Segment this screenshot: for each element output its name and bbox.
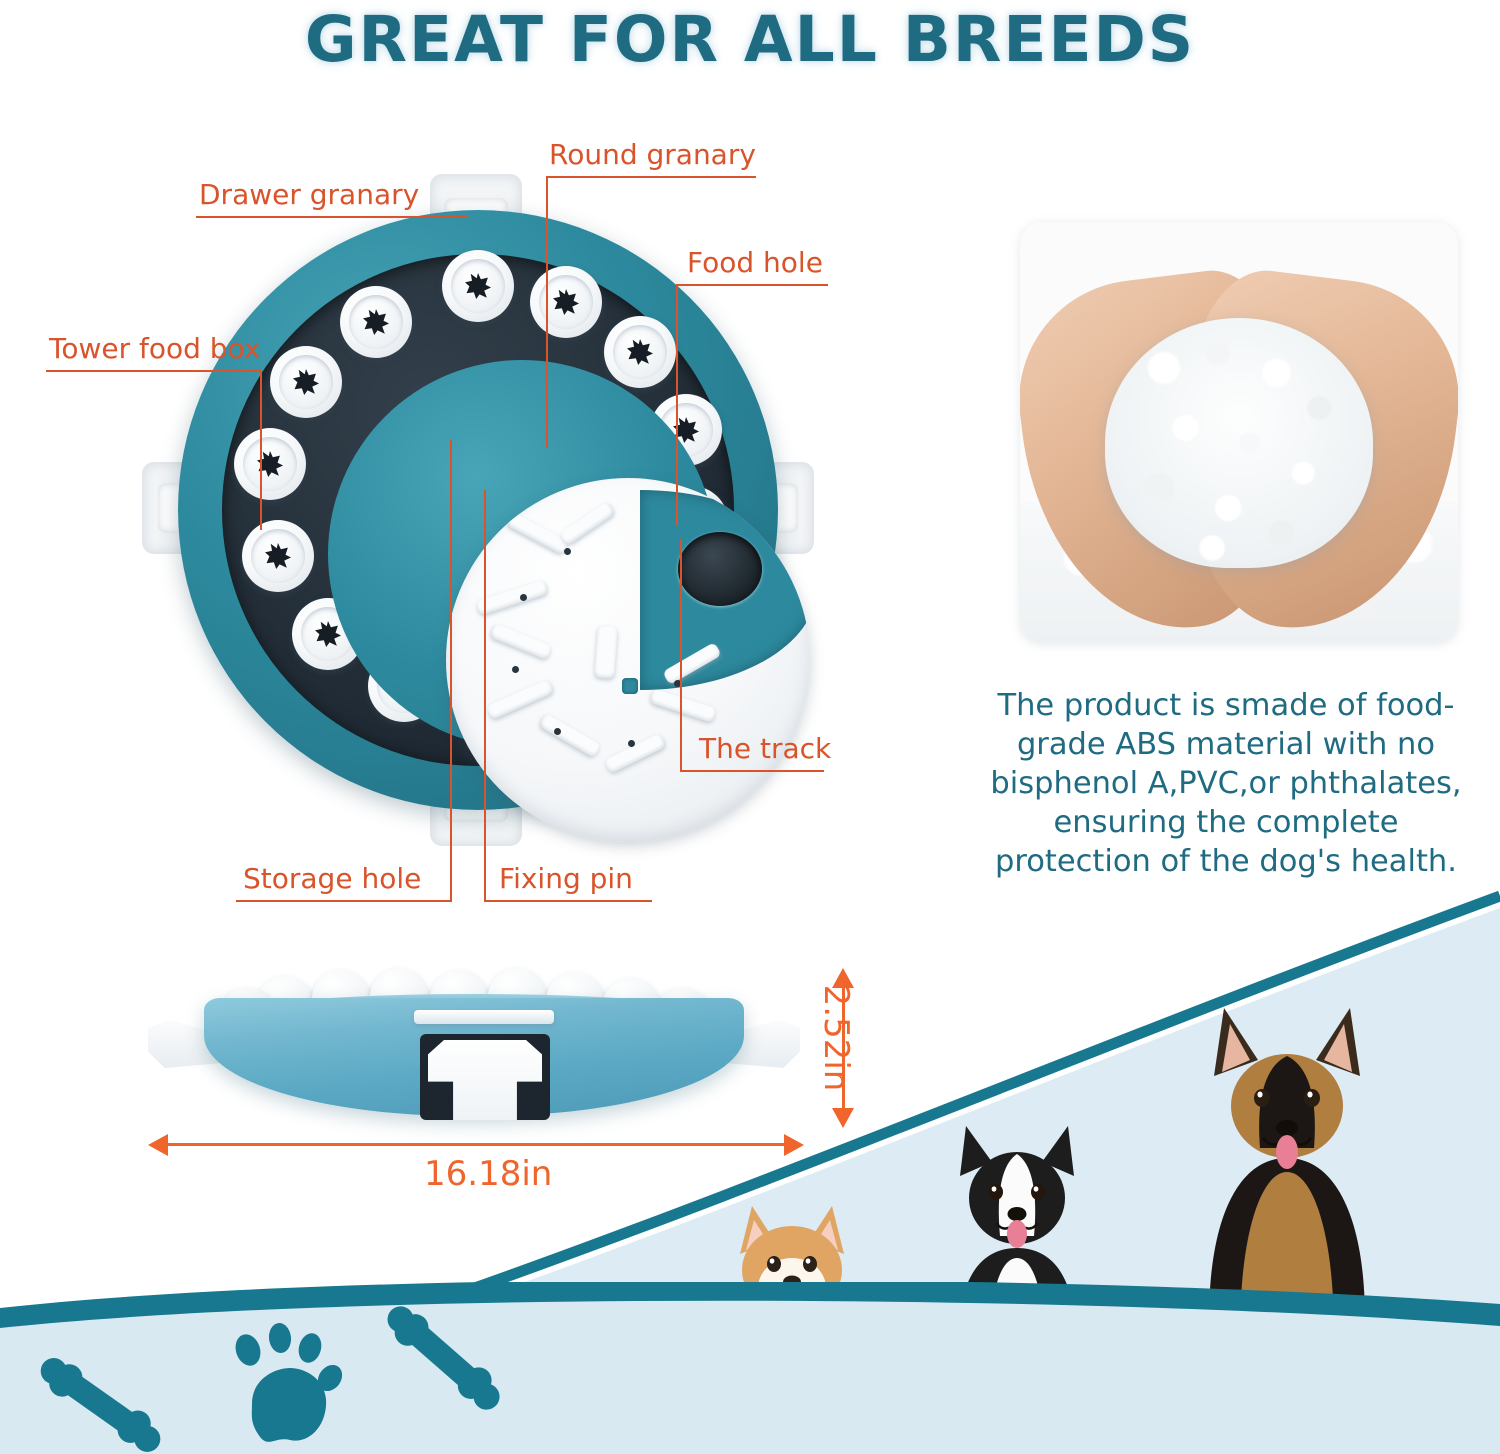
- leader-storage-hole: [450, 440, 452, 900]
- disc-spoke: [649, 688, 716, 723]
- plastic-pellets: [1105, 318, 1373, 568]
- drawer-granary-front: [420, 1034, 550, 1120]
- disc-dot: [512, 666, 519, 673]
- disc-spoke: [594, 625, 618, 678]
- bottom-decor-panel: [0, 1282, 1500, 1454]
- width-arrow-left: [148, 1134, 168, 1156]
- callout-fixing-pin: Fixing pin: [496, 862, 636, 899]
- rotating-disc: [446, 478, 810, 842]
- underline-storage-hole: [236, 900, 452, 902]
- product-side-view: [148, 968, 800, 1128]
- leader-fixing-pin: [484, 490, 486, 900]
- height-dimension-label: 2.52in: [816, 985, 856, 1092]
- infographic-canvas: GREAT FOR ALL BREEDS: [0, 0, 1500, 1454]
- page-title: GREAT FOR ALL BREEDS: [0, 2, 1500, 80]
- underline-the-track: [680, 770, 824, 772]
- disc-spoke: [489, 623, 552, 660]
- disc-spoke: [559, 501, 615, 546]
- callout-the-track: The track: [696, 732, 834, 769]
- disc-dot: [564, 548, 571, 555]
- cup-hole-icon: [315, 621, 341, 647]
- underline-tower-food-box: [46, 370, 262, 372]
- cup-hole-icon: [627, 339, 653, 365]
- disc-spoke: [486, 679, 554, 720]
- drawer-lid: [414, 1010, 554, 1024]
- leader-round-granary: [546, 176, 548, 448]
- food-cup: [234, 428, 306, 500]
- callout-food-hole: Food hole: [684, 246, 826, 283]
- disc-dot: [554, 728, 561, 735]
- fixing-pin-marker: [622, 678, 638, 694]
- abs-pellets-photo: [1020, 222, 1458, 642]
- width-dimension-line: [168, 1143, 784, 1146]
- track-surface: [222, 254, 734, 766]
- round-granary-hole: [678, 532, 762, 606]
- callout-round-granary: Round granary: [546, 138, 759, 175]
- underline-fixing-pin: [484, 900, 652, 902]
- leader-tower-food-box: [260, 370, 262, 530]
- width-dimension-label: 16.18in: [424, 1154, 552, 1194]
- callout-drawer-granary: Drawer granary: [196, 178, 422, 215]
- leader-drawer-granary: [196, 216, 468, 218]
- underline-round-granary: [546, 176, 756, 178]
- cup-hole-icon: [465, 273, 491, 299]
- leader-food-hole: [676, 284, 678, 526]
- food-cup: [604, 316, 676, 388]
- height-arrow-down: [832, 1108, 854, 1128]
- cup-hole-icon: [293, 369, 319, 395]
- food-cup: [242, 520, 314, 592]
- disc-dot: [520, 594, 527, 601]
- disc-spoke: [475, 579, 548, 616]
- underline-food-hole: [676, 284, 828, 286]
- outer-teal-ring: [178, 210, 778, 810]
- callout-storage-hole: Storage hole: [240, 862, 424, 899]
- cup-hole-icon: [265, 543, 291, 569]
- food-cup: [270, 346, 342, 418]
- disc-dot: [628, 740, 635, 747]
- leader-the-track: [680, 540, 682, 770]
- width-arrow-right: [784, 1134, 804, 1156]
- food-cup: [442, 250, 514, 322]
- cup-hole-icon: [553, 289, 579, 315]
- callout-tower-food-box: Tower food box: [46, 332, 263, 369]
- food-cup: [340, 286, 412, 358]
- material-description: The product is smade of food-grade ABS m…: [990, 686, 1462, 881]
- disc-spoke: [539, 713, 602, 758]
- bottom-panel-svg: [0, 1282, 1500, 1454]
- food-cup: [530, 266, 602, 338]
- cup-hole-icon: [363, 309, 389, 335]
- disc-spoke: [604, 733, 666, 774]
- inner-teal-ring: [328, 360, 716, 748]
